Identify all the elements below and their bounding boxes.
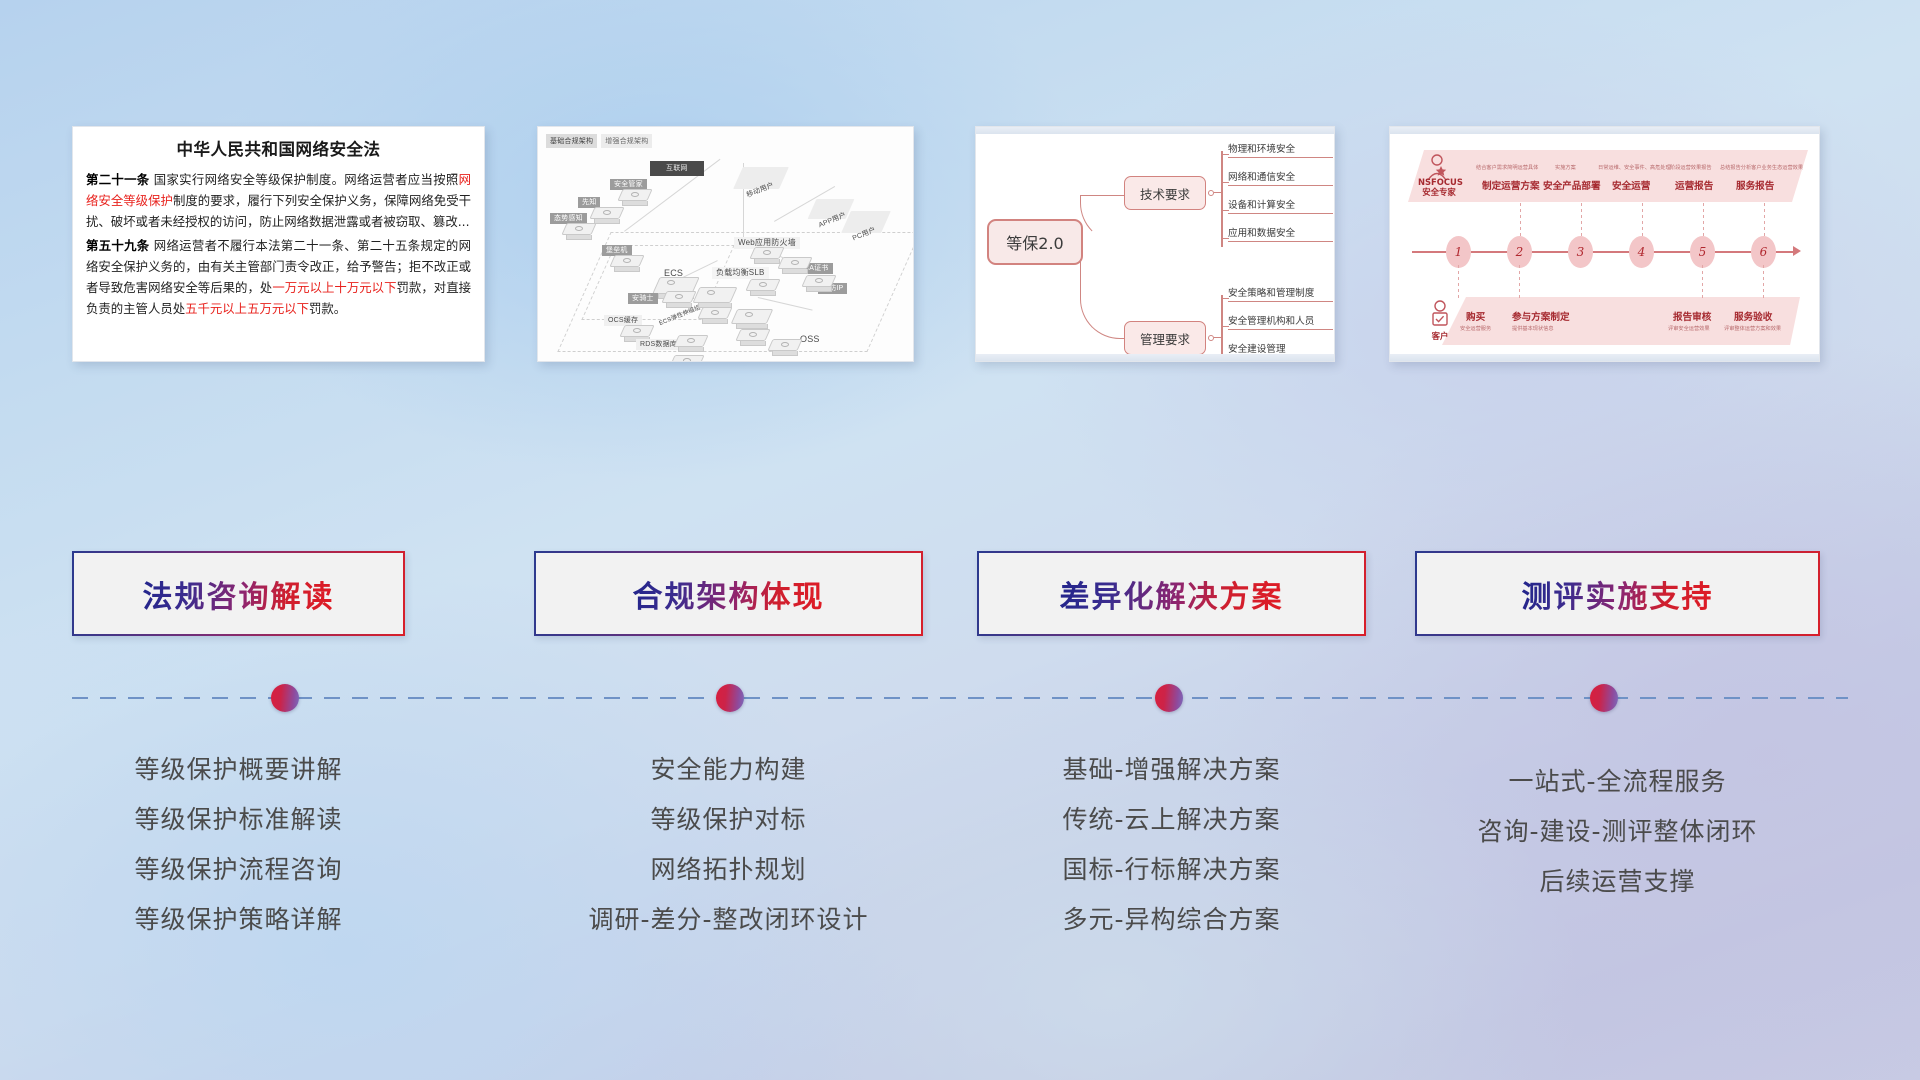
mindmap-leaf-connector [1221, 298, 1229, 299]
timeline-sub: 阶段运营效果报告 [1670, 164, 1712, 171]
list-item: 等级保护标准解读 [72, 795, 405, 845]
timeline-connector [1702, 265, 1703, 301]
law-article-21: 第二十一条 国家实行网络安全等级保护制度。网络运营者应当按照网络安全等级保护制度… [86, 169, 471, 232]
timeline-sub: 评审整体运营方案和效果 [1724, 325, 1781, 332]
timeline-sub: 日常运维、安全事件、高危处理 [1598, 164, 1671, 171]
timeline-sub: 评审安全运营效果 [1668, 325, 1710, 332]
chip-anqishi: 安骑士 [628, 293, 658, 304]
timeline-connector [1703, 203, 1704, 239]
timeline-band-expert [1408, 150, 1808, 202]
section-list-3: 基础-增强解决方案 传统-云上解决方案 国标-行标解决方案 多元-异构综合方案 [977, 745, 1366, 945]
article-59-text-c: 罚款。 [309, 301, 346, 316]
architecture-diagram: 基础合规架构 增强合规架构 互联网 安全管家 先知 态势感知 堡垒机 [538, 127, 913, 361]
node-slb [748, 279, 778, 296]
timeline-divider [72, 697, 1848, 699]
section-title-label: 法规咨询解读 [143, 572, 335, 616]
list-item: 安全能力构建 [534, 745, 923, 795]
timeline-sub: 安全运营服务 [1460, 325, 1491, 332]
node-situation-awareness [564, 223, 594, 240]
mindmap-leaf: 安全建设管理 [1228, 341, 1333, 358]
law-document: 中华人民共和国网络安全法 第二十一条 国家实行网络安全等级保护制度。网络运营者应… [73, 127, 484, 325]
node-oss [770, 339, 800, 356]
timeline-connector [1642, 203, 1643, 239]
node-security-butler [620, 189, 650, 206]
tab-enhanced-architecture[interactable]: 增强合规架构 [601, 134, 652, 148]
timeline-band-customer-right [1635, 297, 1800, 345]
section-title-label: 测评实施支持 [1522, 572, 1714, 616]
timeline-connector [1458, 265, 1459, 301]
mindmap-leaf: 设备和计算安全 [1228, 197, 1333, 214]
section-title-box-2[interactable]: 合规架构体现 [534, 551, 923, 636]
timeline-node-2: 2 [1507, 236, 1532, 268]
card-cybersecurity-law: 中华人民共和国网络安全法 第二十一条 国家实行网络安全等级保护制度。网络运营者应… [72, 126, 485, 362]
timeline-node-4: 4 [1629, 236, 1654, 268]
timeline-main: 服务报告 [1736, 178, 1774, 192]
node-xianzhi [592, 207, 622, 224]
mindmap: 等保2.0 技术要求 管理要求 物理和环境安全 网络和通信安全 设备和计算安全 … [976, 127, 1334, 361]
mindmap-connect-technical [1214, 192, 1222, 193]
node-ecs-instance [700, 307, 730, 324]
mindmap-leaf: 安全策略和管理制度 [1228, 285, 1333, 302]
article-59-highlight-2: 五千元以上五万元以下 [185, 301, 309, 316]
card-mindmap-dengbao: 等保2.0 技术要求 管理要求 物理和环境安全 网络和通信安全 设备和计算安全 … [975, 126, 1335, 362]
list-item: 等级保护流程咨询 [72, 845, 405, 895]
chip-slb: 负载均衡SLB [712, 267, 769, 279]
timeline-connector [1581, 203, 1582, 239]
mindmap-curve-bottom [1080, 259, 1128, 339]
timeline-dot-4 [1590, 684, 1618, 712]
article-59-highlight-1: 一万元以上十万元以下 [272, 280, 396, 295]
mindmap-spine-technical [1221, 151, 1223, 247]
timeline-node-6: 6 [1751, 236, 1776, 268]
node-db-audit [672, 355, 702, 362]
timeline-main: 参与方案制定 [1512, 309, 1570, 323]
section-title-label: 差异化解决方案 [1060, 572, 1284, 616]
mindmap-root: 等保2.0 [987, 219, 1083, 265]
mindmap-leaf-connector [1221, 210, 1229, 211]
timeline-connector [1520, 203, 1521, 239]
mindmap-leaf-connector [1221, 182, 1229, 183]
list-item: 等级保护对标 [534, 795, 923, 845]
node-ecs-instance [734, 309, 770, 329]
mindmap-leaf-connector [1221, 354, 1229, 355]
list-item: 等级保护策略详解 [72, 895, 405, 945]
section-title-box-4[interactable]: 测评实施支持 [1415, 551, 1820, 636]
mindmap-leaf: 物理和环境安全 [1228, 141, 1333, 158]
timeline-main: 购买 [1466, 309, 1485, 323]
timeline-node-1: 1 [1446, 236, 1471, 268]
list-item: 多元-异构综合方案 [977, 895, 1366, 945]
list-item: 等级保护概要讲解 [72, 745, 405, 795]
timeline-node-3: 3 [1568, 236, 1593, 268]
timeline-main: 服务验收 [1734, 309, 1772, 323]
customer-icon [1428, 299, 1452, 329]
expert-role-label: NSFOCUS安全专家 [1418, 177, 1460, 197]
section-title-row: 法规咨询解读 合规架构体现 差异化解决方案 测评实施支持 [0, 551, 1920, 636]
timeline-sub: 总结报告分析客户业务生态运营效果 [1720, 164, 1803, 171]
node-vpc [776, 361, 806, 362]
timeline-dot-1 [271, 684, 299, 712]
node-bastion [612, 255, 642, 272]
list-item: 后续运营支撑 [1415, 857, 1820, 907]
node-ecs-instance [696, 287, 734, 308]
mindmap-leaf: 安全管理机构和人员 [1228, 313, 1333, 330]
timeline-dot-3 [1155, 684, 1183, 712]
section-title-label: 合规架构体现 [633, 572, 825, 616]
card-nsfocus-timeline: NSFOCUS安全专家 客户 1 2 3 4 5 6 [1389, 126, 1820, 362]
section-list-1: 等级保护概要讲解 等级保护标准解读 等级保护流程咨询 等级保护策略详解 [72, 745, 405, 945]
mindmap-connect-management [1214, 337, 1222, 338]
timeline-connector [1763, 265, 1764, 301]
node-anti-ddos [804, 275, 834, 292]
timeline-arrow-icon [1793, 246, 1801, 256]
card-cloud-architecture: 基础合规架构 增强合规架构 互联网 安全管家 先知 态势感知 堡垒机 [537, 126, 914, 362]
timeline-sub: 结合客户需求简明运营具体 [1476, 164, 1538, 171]
section-title-box-3[interactable]: 差异化解决方案 [977, 551, 1366, 636]
list-item: 咨询-建设-测评整体闭环 [1415, 807, 1820, 857]
timeline-main: 运营报告 [1675, 178, 1713, 192]
node-rds [676, 335, 706, 352]
mindmap-leaf: 网络和通信安全 [1228, 169, 1333, 186]
node-ca-certificate [780, 257, 810, 274]
timeline-main: 制定运营方案 [1482, 178, 1540, 192]
timeline-main: 安全运营 [1612, 178, 1650, 192]
timeline-connector [1764, 203, 1765, 239]
article-21-label: 第二十一条 [86, 172, 150, 187]
article-59-label: 第五十九条 [86, 238, 150, 253]
chip-internet: 互联网 [650, 161, 704, 176]
mindmap-leaf-connector [1221, 326, 1229, 327]
mindmap-curve-top [1080, 195, 1128, 243]
mindmap-spine-management [1221, 295, 1223, 362]
node-waf [752, 247, 782, 264]
list-item: 一站式-全流程服务 [1415, 757, 1820, 807]
mindmap-leaf-connector [1221, 238, 1229, 239]
reference-cards-row: 中华人民共和国网络安全法 第二十一条 国家实行网络安全等级保护制度。网络运营者应… [0, 126, 1920, 362]
list-item: 国标-行标解决方案 [977, 845, 1366, 895]
list-item: 基础-增强解决方案 [977, 745, 1366, 795]
timeline-main: 报告审核 [1673, 309, 1711, 323]
list-item: 传统-云上解决方案 [977, 795, 1366, 845]
architecture-tabs: 基础合规架构 增强合规架构 [546, 134, 652, 148]
section-list-2: 安全能力构建 等级保护对标 网络拓扑规划 调研-差分-整改闭环设计 [534, 745, 923, 945]
timeline-sub: 实施方案 [1555, 164, 1576, 171]
timeline-sub: 提供基本现状信息 [1512, 325, 1554, 332]
timeline-main: 安全产品部署 [1543, 178, 1601, 192]
section-list-4: 一站式-全流程服务 咨询-建设-测评整体闭环 后续运营支撑 [1415, 757, 1820, 907]
mindmap-branch-management: 管理要求 [1124, 321, 1206, 355]
timeline-connector [1519, 265, 1520, 301]
article-21-text-a: 国家实行网络安全等级保护制度。网络运营者应当按照 [150, 172, 459, 187]
list-item: 调研-差分-整改闭环设计 [534, 895, 923, 945]
list-item: 网络拓扑规划 [534, 845, 923, 895]
timeline-dot-2 [716, 684, 744, 712]
mindmap-leaf: 应用和数据安全 [1228, 225, 1333, 242]
timeline-node-5: 5 [1690, 236, 1715, 268]
tab-basic-architecture[interactable]: 基础合规架构 [546, 134, 597, 148]
law-title: 中华人民共和国网络安全法 [86, 136, 471, 160]
law-article-59: 第五十九条 网络运营者不履行本法第二十一条、第二十五条规定的网络安全保护义务的，… [86, 235, 471, 319]
mindmap-branch-technical: 技术要求 [1124, 176, 1206, 210]
nsfocus-timeline: NSFOCUS安全专家 客户 1 2 3 4 5 6 [1390, 127, 1819, 361]
node-ecs-instance [738, 329, 768, 346]
mindmap-leaf-connector [1221, 154, 1229, 155]
section-title-box-1[interactable]: 法规咨询解读 [72, 551, 405, 636]
customer-role-label: 客户 [1426, 330, 1454, 342]
